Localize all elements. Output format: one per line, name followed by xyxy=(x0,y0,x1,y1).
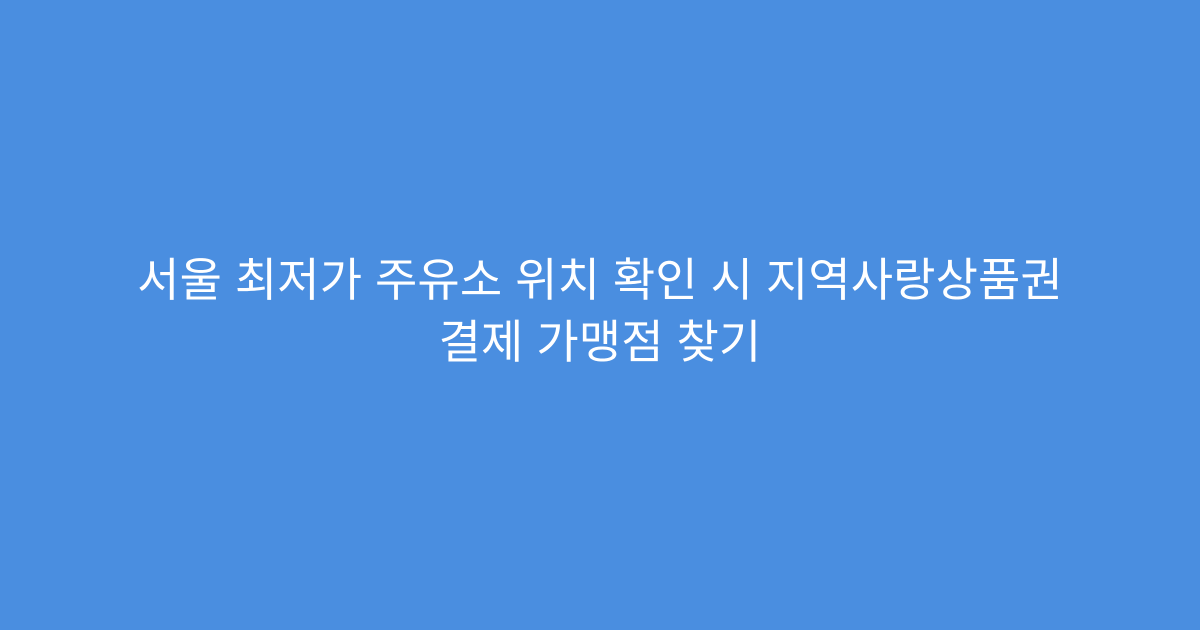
card-title: 서울 최저가 주유소 위치 확인 시 지역사랑상품권 결제 가맹점 찾기 xyxy=(72,249,1128,373)
share-card-canvas: 서울 최저가 주유소 위치 확인 시 지역사랑상품권 결제 가맹점 찾기 xyxy=(0,0,1200,630)
